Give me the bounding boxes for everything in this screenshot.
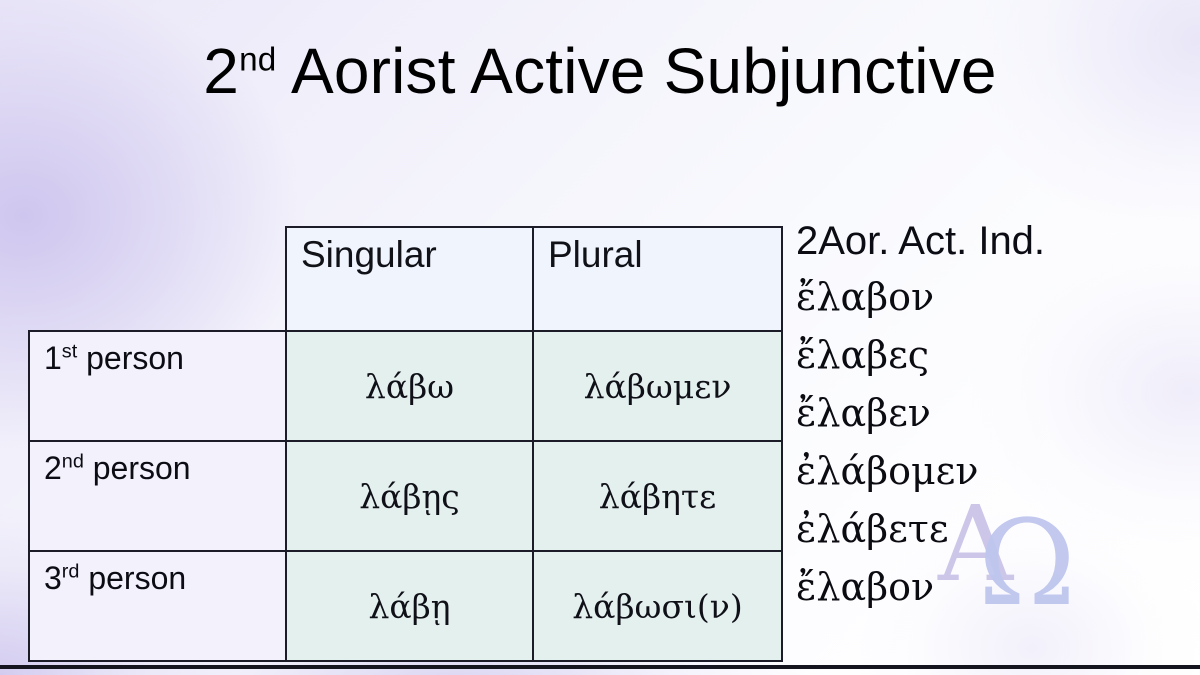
- title-main-text: Aorist Active Subjunctive: [291, 35, 997, 107]
- form-plural-second: λάβητε: [533, 441, 782, 551]
- form-singular-second: λάβῃς: [286, 441, 533, 551]
- form-singular-third: λάβῃ: [286, 551, 533, 661]
- table-row: 2nd person λάβῃς λάβητε: [29, 441, 782, 551]
- slide-title: 2nd Aorist Active Subjunctive: [0, 34, 1200, 108]
- form-plural-first: λάβωμεν: [533, 331, 782, 441]
- indicative-form: ἐλάβομεν: [796, 442, 1196, 500]
- row-label-text: person: [79, 560, 186, 596]
- row-label-second-person: 2nd person: [29, 441, 286, 551]
- row-label-text: person: [77, 340, 184, 376]
- row-label-third-person: 3rd person: [29, 551, 286, 661]
- slide-canvas: Α Ω 2nd Aorist Active Subjunctive Singul…: [0, 0, 1200, 675]
- conjugation-table: Singular Plural 1st person λάβω λάβωμεν …: [28, 226, 783, 662]
- table-row: 3rd person λάβῃ λάβωσι(ν): [29, 551, 782, 661]
- title-ordinal-suffix: nd: [239, 42, 276, 79]
- table-corner-cell: [29, 227, 286, 331]
- bottom-divider: [0, 665, 1200, 669]
- row-label-ordinal: nd: [62, 450, 84, 472]
- title-number: 2: [203, 35, 239, 107]
- indicative-form: ἔλαβεν: [796, 384, 1196, 442]
- column-header-singular: Singular: [286, 227, 533, 331]
- table-row: 1st person λάβω λάβωμεν: [29, 331, 782, 441]
- indicative-form: ἐλάβετε: [796, 500, 1196, 558]
- form-plural-third: λάβωσι(ν): [533, 551, 782, 661]
- row-label-number: 3: [44, 560, 62, 596]
- column-header-plural: Plural: [533, 227, 782, 331]
- form-singular-first: λάβω: [286, 331, 533, 441]
- indicative-form: ἔλαβον: [796, 558, 1196, 616]
- row-label-ordinal: st: [62, 340, 77, 362]
- row-label-text: person: [84, 450, 191, 486]
- indicative-form: ἔλαβες: [796, 326, 1196, 384]
- indicative-heading: 2Aor. Act. Ind.: [796, 220, 1196, 262]
- row-label-number: 1: [44, 340, 62, 376]
- table-header-row: Singular Plural: [29, 227, 782, 331]
- indicative-form: ἔλαβον: [796, 268, 1196, 326]
- row-label-first-person: 1st person: [29, 331, 286, 441]
- row-label-ordinal: rd: [62, 560, 80, 582]
- indicative-column: 2Aor. Act. Ind. ἔλαβον ἔλαβες ἔλαβεν ἐλά…: [796, 220, 1196, 616]
- row-label-number: 2: [44, 450, 62, 486]
